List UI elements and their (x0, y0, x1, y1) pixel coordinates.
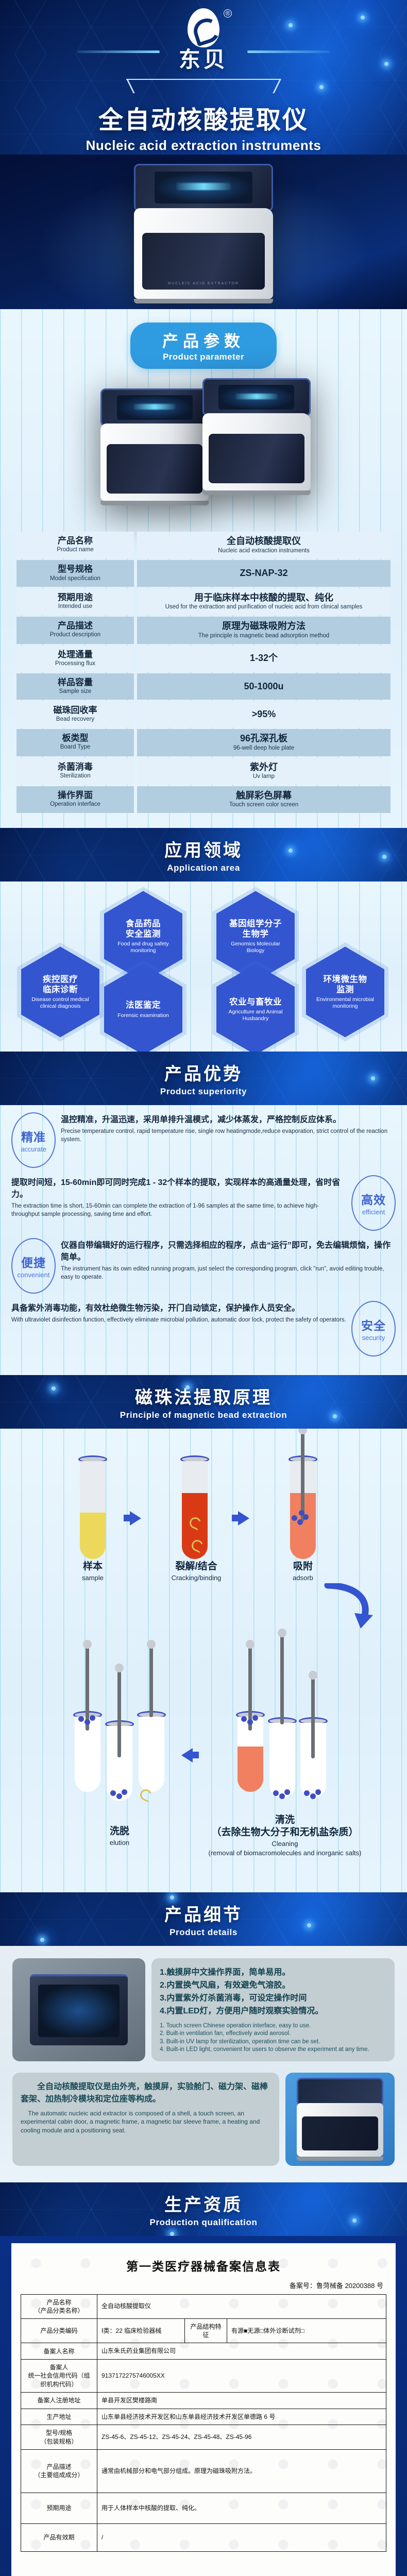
table-row: 预期用途 用于人体样本中核酸的提取、纯化。 (21, 2493, 386, 2523)
table-row: 处理通量Processing flux 1-32个 (16, 646, 391, 672)
param-value-cn: 1-32个 (250, 652, 278, 664)
param-value-cn: >95% (252, 708, 276, 720)
superiority-badge: 精准 accurate (11, 1112, 56, 1168)
param-label-cn: 处理通量 (19, 649, 132, 660)
tube-cleaning-b (268, 1717, 297, 1798)
param-label-cn: 磁珠回收率 (19, 705, 132, 716)
superiority-item-efficient: 高效 efficient 提取时间短，15-60min即可同时完成1 - 32个… (11, 1175, 396, 1231)
section-title-en: Product details (169, 1927, 238, 1938)
logo-rule-left (77, 50, 160, 53)
superiority-badge: 安全 security (351, 1301, 396, 1357)
machine-etched-label: NUCLEIC ACID EXTRACTOR (142, 282, 265, 285)
application-area-section: 疾控医疗 临床诊断 Disease control medical clinic… (0, 882, 407, 1052)
logo-rule-right (247, 50, 330, 53)
wave-emblem-icon (188, 8, 219, 47)
certificate-table: 产品名称（产品分类名称） 全自动核酸提取仪 产品分类编码 Ⅰ类：22 临床检验器… (21, 2294, 386, 2552)
detail-row-composition: 全自动核酸提取仪是由外壳，触摸屏，实验舱门、磁力架、磁棒套架、加热制冷模块和定位… (12, 2073, 395, 2166)
section-title-cn: 产品细节 (164, 1901, 243, 1926)
section-header-parameter: 产品参数 Product parameter (130, 323, 277, 369)
tube-sample (78, 1455, 107, 1559)
table-row: 生产地址 山东单县经济技术开发区和山东单县经济技术开发区单德路 6 号 (21, 2409, 386, 2425)
table-row: 产品描述（主要组成成分） 通常由机械部分和电气部分组成。原理为磁珠吸附方法。 (21, 2449, 386, 2493)
param-value-cn: 触屏彩色屏幕 (139, 790, 388, 802)
param-value-en: The principle is magnetic bead adsorptio… (139, 632, 388, 640)
param-value-cn: 紫外灯 (139, 761, 388, 773)
param-label-en: Bead recovery (19, 716, 132, 723)
param-label-cn: 杀菌消毒 (19, 761, 132, 772)
detail-card-composition: 全自动核酸提取仪是由外壳，触摸屏，实验舱门、磁力架、磁棒套架、加热制冷模块和定位… (12, 2073, 279, 2166)
detail-item-cn: 2.内置换气风扇，有效避免气溶胶。 (160, 1979, 386, 1992)
param-label-cn: 产品描述 (19, 620, 132, 631)
hero-banner: ® 东贝 全自动核酸提取仪 Nucleic acid extraction in… (0, 0, 407, 155)
param-value-en: 96-well deep hole plate (139, 744, 388, 752)
table-row: 预期用途Intended use 用于临床样本中核酸的提取、纯化Used for… (16, 588, 391, 615)
certificate-record-number: 备案号：鲁菏械备 20200388 号 (21, 2280, 383, 2290)
detail-photo-machine (285, 2073, 395, 2166)
bead-step-label-cleaning: 清洗 （去除生物大分子和无机盐杂质） Cleaning (removal of … (190, 1814, 380, 1857)
parameter-table: 产品名称Product name 全自动核酸提取仪Nucleic acid ex… (0, 529, 407, 828)
bead-extraction-diagram: 样本 sample 裂解/结合 Cracking/binding 吸附 adso… (0, 1429, 407, 1892)
product-parameter-section: 产品参数 Product parameter (0, 309, 407, 828)
table-row: 产品有效期 / (21, 2523, 386, 2551)
section-title-cn: 磁珠法提取原理 (135, 1383, 272, 1409)
param-label-en: Processing flux (19, 660, 132, 668)
production-qualification-section: 第一类医疗器械备案信息表 备案号：鲁菏械备 20200388 号 产品名称（产品… (0, 2236, 407, 2576)
detail-item-en: 3. Built-in UV lamp for sterilization, o… (160, 2038, 386, 2046)
superiority-item-convenient: 便捷 convenient 仪器自带编辑好的运行程序，只需选择相应的程序，点击“… (11, 1238, 396, 1294)
superiority-badge: 便捷 convenient (11, 1238, 56, 1294)
section-title-en: Product parameter (162, 352, 245, 362)
param-value-cn: 原理为磁珠吸附方法 (139, 620, 388, 632)
table-row: 磁珠回收率Bead recovery >95% (16, 701, 391, 727)
param-label-en: Operation interface (19, 801, 132, 808)
param-value-cn: ZS-NAP-32 (240, 567, 287, 579)
table-row: 样品容量Sample size 50-1000u (16, 673, 391, 700)
table-row: 备案人名称 山东朱氏药业集团有限公司 (21, 2343, 386, 2360)
param-label-cn: 操作界面 (19, 790, 132, 801)
product-infographic-page: ® 东贝 全自动核酸提取仪 Nucleic acid extraction in… (0, 0, 407, 2576)
param-label-en: Sterilization (19, 772, 132, 780)
section-header-principle: 磁珠法提取原理 Principle of magnetic bead extra… (0, 1375, 407, 1429)
bead-step-label-sample: 样本 sample (62, 1561, 124, 1582)
section-title-cn: 生产资质 (164, 2191, 243, 2216)
param-value-cn: 50-1000u (244, 681, 283, 692)
superiority-badge: 高效 efficient (351, 1175, 396, 1231)
param-label-en: Sample size (19, 688, 132, 696)
detail-item-cn: 1.触摸屏中文操作界面，简单易用。 (160, 1967, 386, 1979)
bead-step-label-adsorb: 吸附 adsorb (272, 1561, 334, 1582)
table-row: 产品名称Product name 全自动核酸提取仪Nucleic acid ex… (16, 532, 391, 558)
param-value-cn: 全自动核酸提取仪 (139, 535, 388, 547)
table-row: 型号/规格（包装规格） ZS-45-6、ZS-45-12、ZS-45-24、ZS… (21, 2425, 386, 2449)
param-label-en: Model specification (19, 575, 132, 583)
param-value-en: Touch screen color screen (139, 801, 388, 809)
brand-logo: ® 东贝 (0, 8, 407, 74)
section-header-superiority: 产品优势 Product superiority (0, 1052, 407, 1105)
detail-item-cn: 4.内置LED灯，方便用户随时观察实验情况。 (160, 2005, 386, 2018)
hero-product-photo: NUCLEIC ACID EXTRACTOR (0, 155, 407, 309)
param-label-en: Product description (19, 631, 132, 639)
section-title-en: Production qualification (150, 2217, 258, 2228)
table-row: 备案人注册地址 单县开发区樊楼路南 (21, 2392, 386, 2409)
table-row: 产品描述Product description 原理为磁珠吸附方法The pri… (16, 617, 391, 643)
param-label-en: Board Type (19, 743, 132, 751)
param-label-cn: 预期用途 (19, 592, 132, 603)
detail-composition-cn: 全自动核酸提取仪是由外壳，触摸屏，实验舱门、磁力架、磁棒套架、加热制冷模块和定位… (21, 2081, 271, 2106)
page-title: 全自动核酸提取仪 (98, 99, 309, 135)
detail-photo-touchscreen (12, 1958, 145, 2061)
detail-card-features: 1.触摸屏中文操作界面，简单易用。 2.内置换气风扇，有效避免气溶胶。 3.内置… (151, 1958, 395, 2061)
param-label-cn: 产品名称 (19, 535, 132, 546)
table-row: 杀菌消毒Sterilization 紫外灯Uv lamp (16, 758, 391, 785)
certificate-document: 第一类医疗器械备案信息表 备案号：鲁菏械备 20200388 号 产品名称（产品… (11, 2243, 396, 2576)
param-value-cn: 用于临床样本中核酸的提取、纯化 (139, 592, 388, 604)
flow-arrow-curve-icon (323, 1583, 384, 1630)
param-label-cn: 板类型 (19, 733, 132, 743)
table-row: 产品分类编码 Ⅰ类：22 临床检验器械 产品结构特征 有源■无源□体外诊断试剂□ (21, 2319, 386, 2343)
table-row: 备案人统一社会信用代码（组织机构代码） 9137172275746005XX (21, 2360, 386, 2393)
param-value-cn: 96孔深孔板 (139, 733, 388, 744)
param-label-en: Product name (19, 546, 132, 554)
product-superiority-section: 精准 accurate 温控精准，升温迅速，采用单排升温模式，减少体蒸发，严格控… (0, 1105, 407, 1375)
table-row: 型号规格Model specification ZS-NAP-32 (16, 560, 391, 586)
section-title-cn: 产品优势 (164, 1060, 243, 1085)
section-header-application: 应用领域 Application area (0, 828, 407, 882)
registered-trademark-icon: ® (224, 9, 232, 18)
page-subtitle: Nucleic acid extraction instruments (86, 138, 321, 154)
param-label-en: Intended use (19, 603, 132, 611)
hero-bracket-divider (126, 79, 281, 96)
detail-composition-en: The automatic nucleic acid extractor is … (21, 2109, 271, 2135)
section-header-qualification: 生产资质 Production qualification (0, 2182, 407, 2236)
param-label-cn: 型号规格 (19, 564, 132, 574)
table-row: 操作界面Operation interface 触屏彩色屏幕Touch scre… (16, 786, 391, 813)
param-label-cn: 样品容量 (19, 677, 132, 688)
detail-item-cn: 3.内置紫外灯杀菌消毒，可设定操作时间 (160, 1992, 386, 2005)
section-title-en: Principle of magnetic bead extraction (120, 1410, 287, 1420)
superiority-item-security: 安全 security 具备紫外消毒功能，有效杜绝微生物污染，开门自动锁定，保护… (11, 1301, 396, 1357)
param-value-en: Uv lamp (139, 773, 388, 781)
table-row: 板类型Board Type 96孔深孔板96-well deep hole pl… (16, 729, 391, 756)
tube-elution-c (137, 1711, 166, 1792)
param-value-en: Used for the extraction and purification… (139, 603, 388, 611)
section-title-cn: 应用领域 (164, 836, 243, 861)
section-title-cn: 产品参数 (162, 328, 245, 351)
detail-item-en: 2. Built-in ventilation fan, effectively… (160, 2030, 386, 2038)
section-title-en: Application area (167, 863, 240, 873)
detail-row-features: 1.触摸屏中文操作界面，简单易用。 2.内置换气风扇，有效避免气溶胶。 3.内置… (12, 1958, 395, 2061)
application-hex-grid: 疾控医疗 临床诊断 Disease control medical clinic… (0, 882, 407, 1052)
magnetic-rod (301, 1429, 304, 1521)
bead-step-label-cracking: 裂解/结合 Cracking/binding (163, 1561, 230, 1582)
product-details-section: 1.触摸屏中文操作界面，简单易用。 2.内置换气风扇，有效避免气溶胶。 3.内置… (0, 1946, 407, 2182)
bead-principle-section: 样本 sample 裂解/结合 Cracking/binding 吸附 adso… (0, 1429, 407, 1892)
certificate-title: 第一类医疗器械备案信息表 (21, 2257, 386, 2274)
section-title-en: Product superiority (160, 1087, 247, 1097)
section-header-details: 产品细节 Product details (0, 1892, 407, 1946)
bead-step-label-elution: 洗脱 elution (78, 1825, 161, 1847)
detail-item-en: 4. Built-in LED light, convenient for us… (160, 2046, 386, 2054)
detail-item-en: 1. Touch screen Chinese operation interf… (160, 2022, 386, 2030)
param-value-en: Nucleic acid extraction instruments (139, 547, 388, 555)
superiority-item-accurate: 精准 accurate 温控精准，升温迅速，采用单排升温模式，减少体蒸发，严格控… (11, 1112, 396, 1168)
table-row: 产品名称（产品分类名称） 全自动核酸提取仪 (21, 2294, 386, 2318)
